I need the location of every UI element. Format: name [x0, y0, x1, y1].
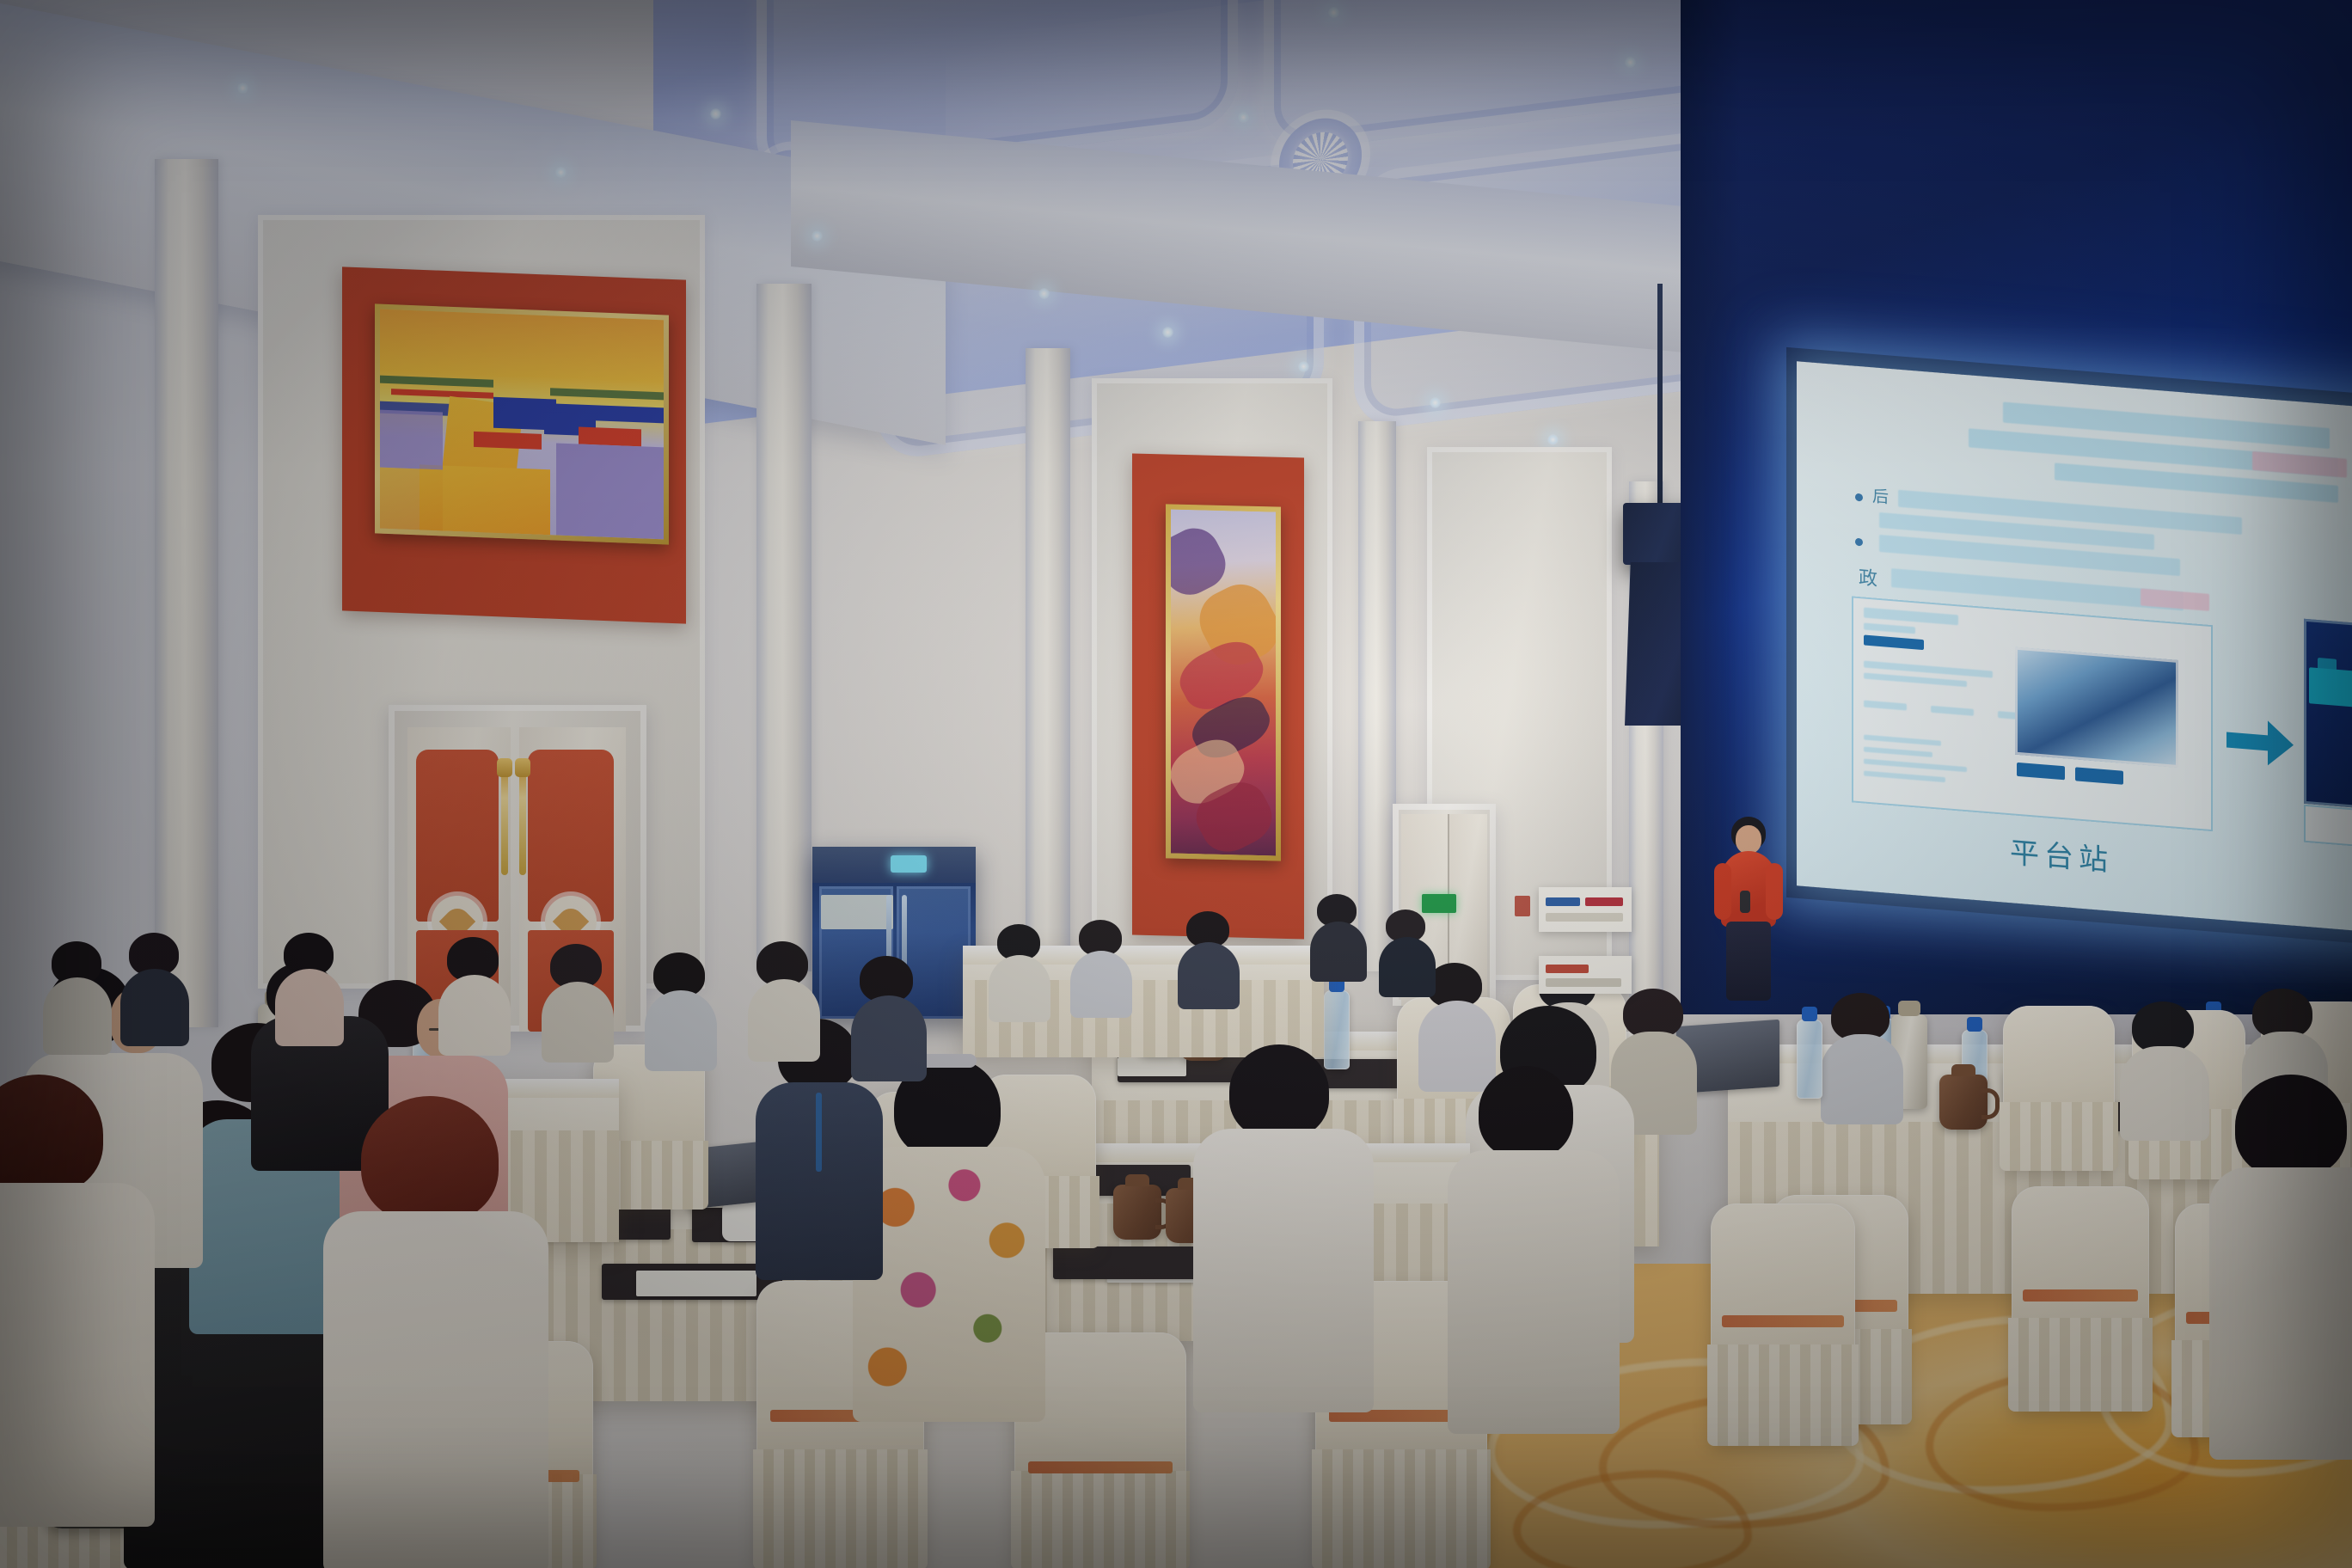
- recessed-downlight: [812, 230, 823, 242]
- recessed-downlight: [1038, 288, 1050, 299]
- banquet-chair[interactable]: [2003, 1006, 2115, 1169]
- slide-bullet-marker: [1855, 538, 1863, 547]
- recessed-downlight: [1238, 112, 1249, 123]
- card-button[interactable]: [2017, 763, 2065, 781]
- banquet-chair[interactable]: [2012, 1186, 2149, 1410]
- wall-pilaster: [1358, 421, 1396, 971]
- painting-landscape: [375, 303, 669, 544]
- mobile-app-screenshot: [2304, 619, 2352, 817]
- recessed-downlight: [1328, 7, 1339, 18]
- recessed-downlight: [1298, 361, 1309, 372]
- water-bottle: [1324, 990, 1350, 1069]
- clay-teapot: [1113, 1185, 1161, 1240]
- cooler-display: [891, 855, 927, 873]
- sponsor-banner: [1539, 956, 1632, 994]
- emergency-exit-sign: [1422, 894, 1456, 913]
- recessed-downlight: [1162, 327, 1173, 338]
- clay-teapot: [1939, 1075, 1988, 1130]
- projection-screen: 后 政: [1797, 361, 2352, 934]
- recessed-downlight: [1430, 397, 1441, 408]
- notepad: [1118, 1057, 1186, 1076]
- slide-section-text: 政: [1859, 562, 1879, 591]
- recessed-downlight: [710, 108, 721, 119]
- slide-bullet-marker: [1855, 493, 1863, 502]
- wall-pilaster: [1026, 348, 1070, 967]
- mobile-app-footer: [2304, 805, 2352, 855]
- recessed-downlight: [555, 167, 567, 178]
- slide-highlight-block: [2252, 451, 2347, 478]
- water-bottle: [1797, 1020, 1822, 1099]
- door-handle[interactable]: [501, 772, 508, 875]
- presenter-skirt: [1726, 922, 1771, 1001]
- cooler-label: [821, 895, 893, 929]
- recessed-downlight: [237, 83, 248, 94]
- card-button[interactable]: [2075, 767, 2123, 785]
- recessed-downlight: [1625, 57, 1636, 68]
- recessed-downlight: [1547, 434, 1559, 445]
- presenter: [1709, 817, 1786, 997]
- listing-detail-card: [1852, 596, 2213, 831]
- painting-portrait: [1166, 504, 1281, 861]
- wall-pilaster: [756, 284, 812, 971]
- fire-alarm-box: [1515, 896, 1530, 916]
- banquet-chair[interactable]: [1711, 1204, 1855, 1444]
- door-handle[interactable]: [519, 772, 526, 875]
- notepad: [636, 1271, 756, 1296]
- ballroom-double-door[interactable]: [389, 705, 646, 1032]
- placemat: [1053, 1246, 1212, 1279]
- flow-arrow-right-icon: [2226, 717, 2294, 767]
- conference-hall-photo: 后 政: [0, 0, 2352, 1568]
- handheld-microphone: [1740, 891, 1750, 913]
- slide-bullet-text: 后: [1872, 483, 1890, 508]
- card-photo: [2015, 647, 2178, 768]
- sponsor-banner: [1539, 887, 1632, 932]
- wall-pilaster: [155, 159, 218, 1027]
- slide-caption: 平台站: [2010, 829, 2113, 879]
